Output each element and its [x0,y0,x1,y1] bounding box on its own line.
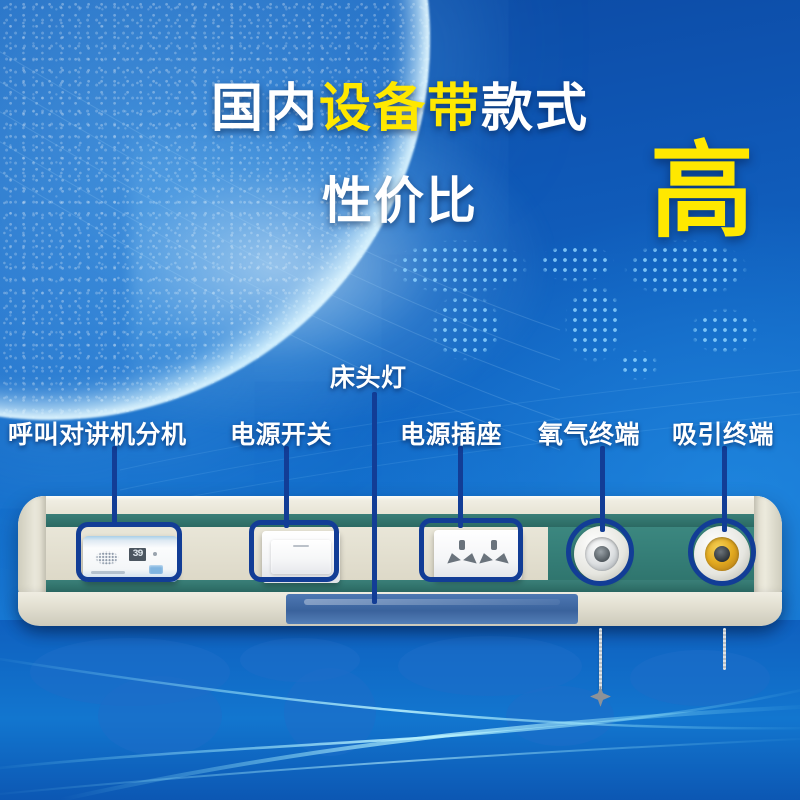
highlight-box-outlet [419,518,523,582]
pull-cord[interactable] [599,628,602,690]
headline-line-1: 国内设备带款式 [0,82,800,137]
callout-label-switch: 电源开关 [230,415,332,451]
highlight-box-switch [249,520,339,582]
callout-label-oxygen: 氧气终端 [538,415,640,451]
callout-label-suction: 吸引终端 [672,415,774,451]
callout-label-outlet: 电源插座 [400,415,502,451]
callout-label-bedlamp: 床头灯 [330,358,407,394]
emphasis-character: 高 [650,140,754,244]
headline-part-1: 国内 [211,80,319,138]
poster-canvas: 国内设备带款式 性价比 高 呼叫对讲机分机 电源开关 床头灯 电源插座 氧气终端… [0,0,800,800]
leader-line-outlet [458,446,463,528]
leader-line-intercom [112,446,117,526]
leader-line-bedlamp [372,392,377,604]
headline-part-2: 设备带 [319,80,481,138]
panel-rail-blue-section [286,594,578,624]
lower-background-graphics [0,620,800,800]
highlight-circle-suction [688,518,756,586]
headline-part-3: 款式 [481,80,589,138]
pull-cord-secondary[interactable] [723,628,726,670]
callout-label-intercom: 呼叫对讲机分机 [8,415,187,451]
highlight-circle-oxygen [566,518,634,586]
highlight-box-intercom [76,522,182,582]
leader-line-switch [284,446,289,528]
